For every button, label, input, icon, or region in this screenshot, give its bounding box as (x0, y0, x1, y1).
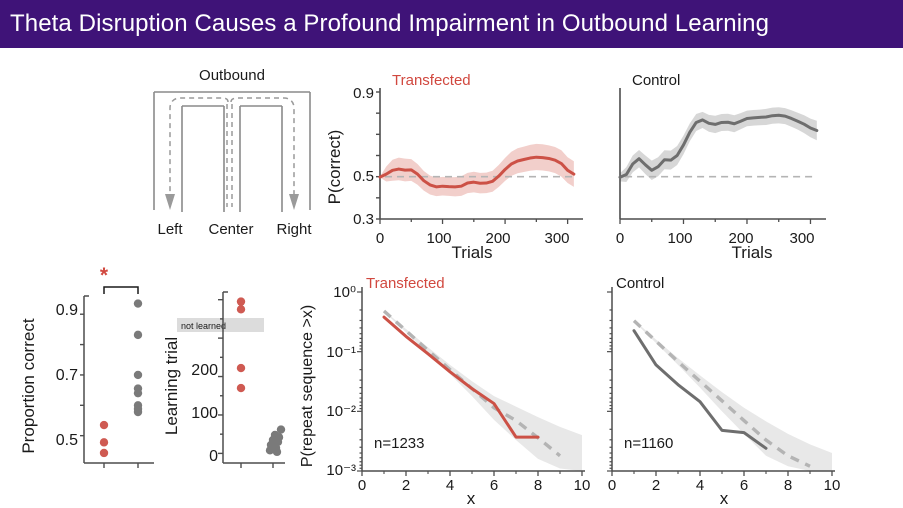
x-tick-rs-0: 0 (358, 477, 366, 494)
x-tick-label-0-control: 0 (616, 230, 624, 247)
significance-asterisk: * (100, 264, 109, 287)
y-axis-label-pcorrect: P(correct) (325, 130, 344, 205)
y-tick-label-lt-100: 100 (191, 405, 218, 422)
y-tick-label-0-3: 0.3 (353, 211, 374, 228)
page-title: Theta Disruption Causes a Profound Impai… (0, 10, 769, 38)
scatter-point (100, 438, 108, 446)
scatter-point (237, 384, 245, 392)
x-tick-rs-6: 6 (490, 477, 498, 494)
y-tick-label-pc-0-9: 0.9 (56, 302, 78, 319)
scatter-point (237, 305, 245, 313)
scatter-point (134, 408, 142, 416)
x-tick-rsc-8: 8 (784, 477, 792, 494)
scatter-point (100, 449, 108, 457)
learning-curve-transfected-panel: Transfected P(correct) Trials 0.9 0.5 0.… (322, 62, 600, 262)
learning-trial-panel: Learning trial 200 100 0 not learned (155, 258, 300, 506)
x-tick-rsc-6: 6 (740, 477, 748, 494)
chart-title-control: Control (632, 72, 680, 89)
y-tick-label-rs-1e-3: 10⁻³ (326, 462, 356, 479)
not-learned-label: not learned (181, 321, 226, 331)
sample-size-transfected: n=1233 (374, 435, 424, 452)
x-tick-label-300-control: 300 (789, 230, 814, 247)
repeat-sequence-control-svg: Control x 0 2 4 6 8 10 n=1160 (596, 268, 901, 508)
y-tick-label-lt-0: 0 (209, 448, 218, 465)
chart-title-transfected: Transfected (392, 72, 471, 89)
not-learned-annotation: not learned (177, 318, 264, 332)
scatter-point (273, 448, 281, 456)
maze-arm-label-right: Right (276, 221, 312, 238)
x-tick-label-0: 0 (376, 230, 384, 247)
scatter-point (134, 299, 142, 307)
plot-area-transfected (376, 88, 583, 224)
scatter-point (266, 446, 274, 454)
y-axis-label-learning-trial: Learning trial (162, 337, 181, 435)
y-tick-label-rs-1e-2: 10⁻² (326, 403, 356, 420)
scatter-point (134, 331, 142, 339)
x-tick-label-300: 300 (544, 230, 569, 247)
maze-arm-label-center: Center (208, 221, 253, 238)
y-axis-label-proportion-correct: Proportion correct (19, 318, 38, 453)
maze-schematic-svg: Outbound Left Center Right (132, 62, 332, 252)
x-tick-rsc-0: 0 (608, 477, 616, 494)
x-axis-label-x-transfected: x (467, 489, 476, 508)
y-tick-label-lt-200: 200 (191, 362, 218, 379)
maze-arm-label-left: Left (157, 221, 183, 238)
sample-size-control: n=1160 (624, 435, 673, 452)
learning-curve-control-svg: Control Trials 0 100 200 300 (600, 62, 890, 262)
repeat-sequence-transfected-panel: Transfected P(repeat sequence >x) x 10⁰ … (296, 268, 596, 508)
x-tick-label-100-control: 100 (667, 230, 692, 247)
x-tick-label-200-control: 200 (728, 230, 753, 247)
chart-title-rs-transfected: Transfected (366, 275, 445, 292)
plot-area-proportion-correct (80, 287, 154, 468)
scatter-point (100, 421, 108, 429)
y-axis-label-repeat-sequence: P(repeat sequence >x) (299, 305, 316, 467)
x-tick-label-200: 200 (485, 230, 510, 247)
title-bar: Theta Disruption Causes a Profound Impai… (0, 0, 903, 48)
x-tick-rs-4: 4 (446, 477, 454, 494)
significance-bracket (104, 287, 138, 294)
learning-trial-svg: Learning trial 200 100 0 not learned (155, 258, 300, 506)
y-tick-label-0-5: 0.5 (353, 168, 374, 185)
x-tick-rsc-2: 2 (652, 477, 660, 494)
x-tick-rs-8: 8 (534, 477, 542, 494)
x-axis-label-x-control: x (720, 489, 729, 508)
chart-title-rs-control: Control (616, 275, 664, 292)
maze-schematic-panel: Outbound Left Center Right (132, 62, 332, 252)
repeat-sequence-transfected-svg: Transfected P(repeat sequence >x) x 10⁰ … (296, 268, 596, 508)
scatter-point (134, 371, 142, 379)
maze-title: Outbound (199, 67, 265, 84)
x-tick-rsc-4: 4 (696, 477, 704, 494)
maze-outbound-paths (170, 98, 294, 207)
learning-curve-control-panel: Control Trials 0 100 200 300 (600, 62, 890, 262)
scatter-point (134, 389, 142, 397)
scatter-point (237, 364, 245, 372)
y-tick-label-0-9: 0.9 (353, 85, 374, 102)
plot-area-control (620, 88, 826, 224)
y-tick-label-pc-0-7: 0.7 (56, 367, 78, 384)
x-tick-rs-10: 10 (574, 477, 591, 494)
learning-curve-transfected-svg: Transfected P(correct) Trials 0.9 0.5 0.… (322, 62, 600, 262)
y-tick-label-rs-1e-1: 10⁻¹ (326, 344, 356, 361)
x-tick-rsc-10: 10 (824, 477, 841, 494)
x-tick-label-100: 100 (426, 230, 451, 247)
x-tick-rs-2: 2 (402, 477, 410, 494)
y-tick-label-rs-1e0: 10⁰ (333, 284, 356, 301)
proportion-correct-svg: Proportion correct * 0.9 0.7 0.5 (8, 258, 158, 506)
proportion-correct-panel: Proportion correct * 0.9 0.7 0.5 (8, 258, 158, 506)
repeat-sequence-control-panel: Control x 0 2 4 6 8 10 n=1160 (596, 268, 901, 508)
scatter-point (237, 297, 245, 305)
y-tick-label-pc-0-5: 0.5 (56, 432, 78, 449)
